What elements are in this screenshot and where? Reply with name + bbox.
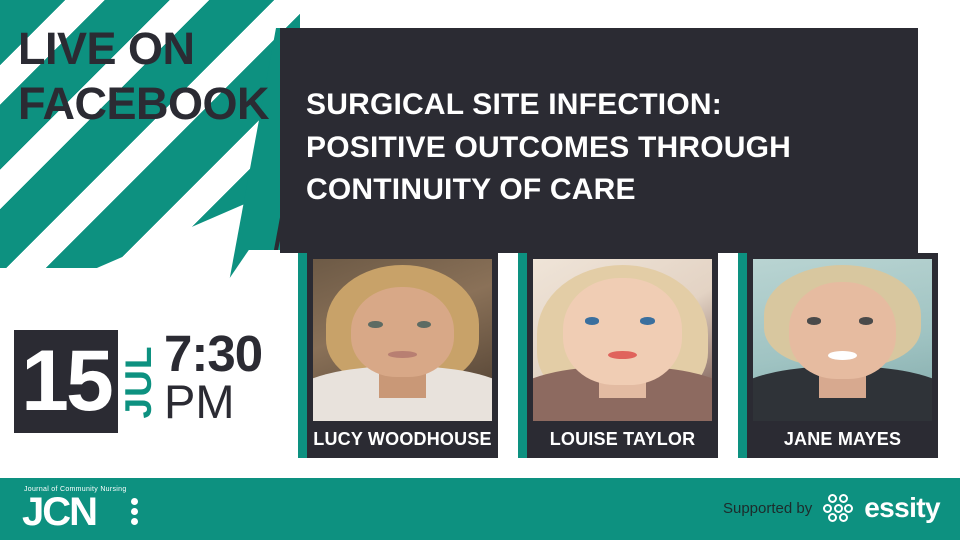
jcn-dot bbox=[131, 508, 138, 515]
event-time-value: 7:30 bbox=[164, 330, 262, 378]
speaker-card-body: LUCY WOODHOUSE bbox=[307, 253, 498, 458]
live-on-line-1: LIVE ON bbox=[18, 22, 298, 77]
card-accent-stripe bbox=[518, 253, 527, 458]
photo-eye-right bbox=[859, 317, 873, 324]
speaker-photo bbox=[313, 259, 492, 421]
photo-mouth bbox=[388, 351, 417, 357]
speaker-card-body: JANE MAYES bbox=[747, 253, 938, 458]
event-month-label: JUL bbox=[118, 345, 160, 418]
photo-face bbox=[351, 287, 455, 378]
card-accent-stripe bbox=[298, 253, 307, 458]
speaker-list: LUCY WOODHOUSE LOUISE TAYLOR bbox=[298, 253, 938, 458]
event-time-meridiem: PM bbox=[164, 380, 262, 425]
essity-ring bbox=[839, 494, 848, 503]
live-on-facebook-heading: LIVE ON FACEBOOK bbox=[18, 22, 298, 132]
jcn-dot bbox=[131, 498, 138, 505]
essity-ring bbox=[828, 494, 837, 503]
speaker-photo bbox=[753, 259, 932, 421]
essity-wordmark: essity bbox=[864, 494, 940, 522]
live-on-line-2: FACEBOOK bbox=[18, 77, 298, 132]
title-panel: SURGICAL SITE INFECTION: POSITIVE OUTCOM… bbox=[280, 28, 918, 253]
essity-logo-icon bbox=[823, 494, 853, 522]
speaker-card: LUCY WOODHOUSE bbox=[298, 253, 498, 458]
sponsor-block: Supported by essity bbox=[723, 494, 940, 522]
event-time: 7:30 PM bbox=[164, 330, 262, 425]
photo-eye-left bbox=[368, 321, 382, 328]
speaker-name: LOUISE TAYLOR bbox=[533, 421, 712, 458]
essity-ring bbox=[834, 504, 843, 513]
event-month: JUL bbox=[118, 330, 160, 433]
card-accent-stripe bbox=[738, 253, 747, 458]
photo-eye-right bbox=[640, 317, 654, 324]
jcn-logo-stack: Journal of Community Nursing JCN bbox=[22, 486, 127, 530]
speaker-card: JANE MAYES bbox=[738, 253, 938, 458]
essity-ring bbox=[823, 504, 832, 513]
jcn-logo: Journal of Community Nursing JCN bbox=[22, 486, 138, 530]
photo-eye-left bbox=[585, 317, 599, 324]
title-line-3: CONTINUITY OF CARE bbox=[306, 169, 906, 212]
photo-eye-left bbox=[807, 317, 821, 324]
speaker-name: LUCY WOODHOUSE bbox=[313, 421, 492, 458]
speaker-card-body: LOUISE TAYLOR bbox=[527, 253, 718, 458]
essity-ring bbox=[844, 504, 853, 513]
photo-face bbox=[563, 278, 681, 385]
title-line-2: POSITIVE OUTCOMES THROUGH bbox=[306, 127, 906, 170]
speaker-card: LOUISE TAYLOR bbox=[518, 253, 718, 458]
title-line-1: SURGICAL SITE INFECTION: bbox=[306, 84, 906, 127]
jcn-dot bbox=[131, 518, 138, 525]
photo-eye-right bbox=[417, 321, 431, 328]
event-title: SURGICAL SITE INFECTION: POSITIVE OUTCOM… bbox=[306, 84, 906, 212]
essity-ring bbox=[839, 513, 848, 522]
event-date-time-block: 15 JUL 7:30 PM bbox=[14, 330, 262, 433]
speaker-name: JANE MAYES bbox=[753, 421, 932, 458]
sponsor-label: Supported by bbox=[723, 500, 812, 517]
event-day: 15 bbox=[14, 330, 118, 433]
event-promo-poster: LIVE ON FACEBOOK 15 JUL 7:30 PM SURGICAL… bbox=[0, 0, 960, 540]
jcn-dots-icon bbox=[131, 498, 138, 525]
speaker-photo bbox=[533, 259, 712, 421]
footer-bar: Journal of Community Nursing JCN Support… bbox=[0, 478, 960, 540]
jcn-wordmark: JCN bbox=[22, 494, 127, 530]
essity-ring bbox=[828, 513, 837, 522]
photo-face bbox=[789, 282, 896, 379]
